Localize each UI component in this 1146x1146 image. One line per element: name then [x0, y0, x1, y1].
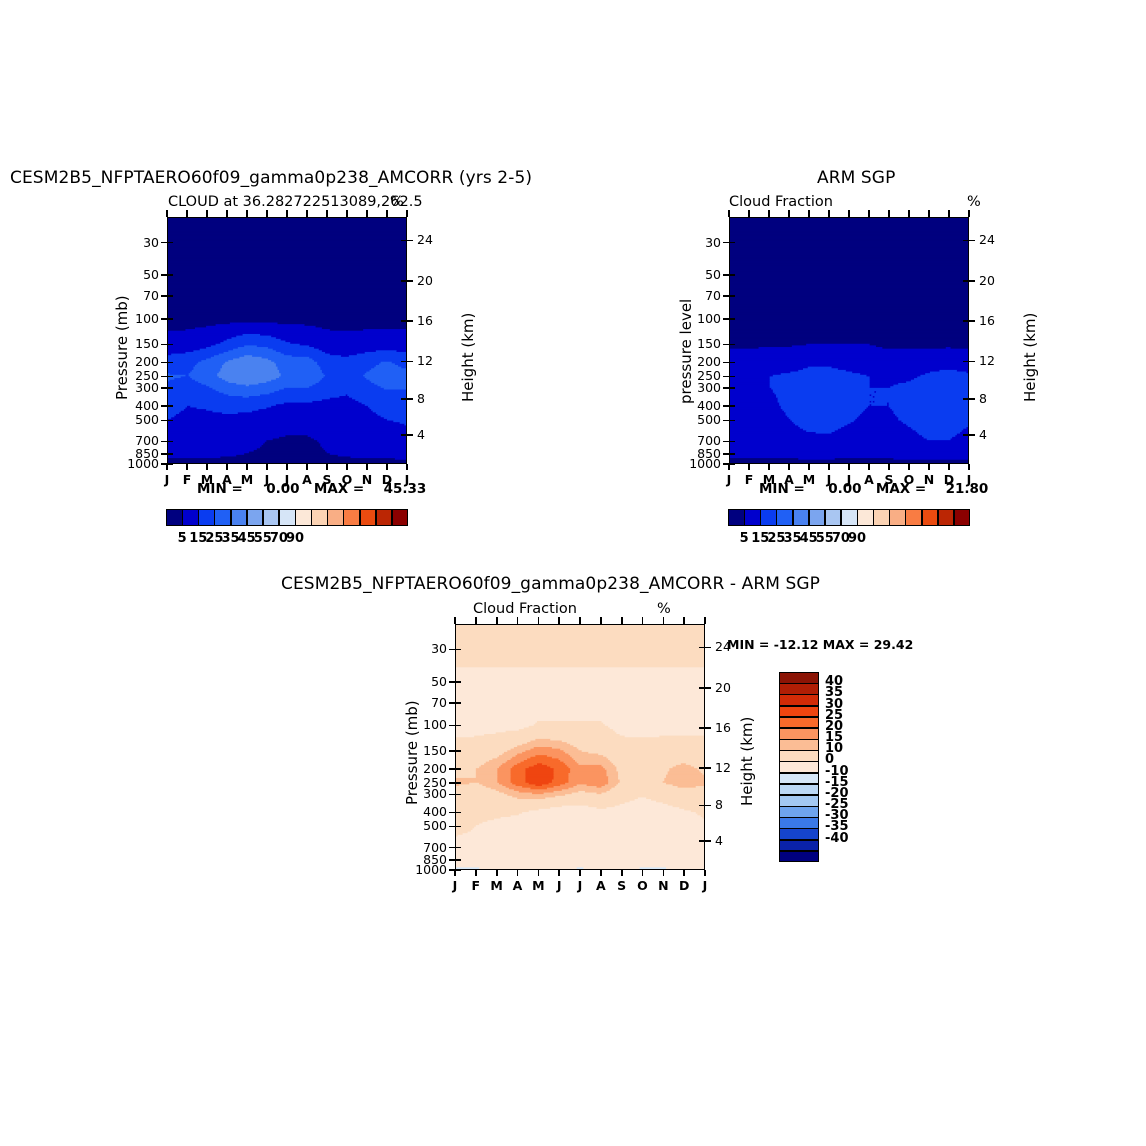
diff-colorbar-swatch	[779, 806, 819, 818]
pressure-inner-tickmark	[168, 344, 173, 346]
height-inner-tickmark	[699, 727, 704, 729]
pressure-tickmark	[723, 453, 729, 455]
cloud-colorbar-swatch	[728, 509, 745, 526]
month-tickmark	[475, 870, 477, 876]
pressure-tickmark	[449, 725, 455, 727]
diff-colorbar-swatch	[779, 728, 819, 740]
pressure-inner-tickmark	[456, 702, 461, 704]
month-top-tickmark	[928, 210, 930, 217]
pressure-tick-label: 150	[673, 336, 721, 351]
month-tick-label: J	[397, 472, 417, 487]
pressure-tickmark	[449, 782, 455, 784]
month-tickmark	[186, 464, 188, 470]
pressure-inner-tickmark	[456, 725, 461, 727]
pressure-tick-label: 70	[399, 695, 447, 710]
cloud-colorbar-swatch	[311, 509, 328, 526]
pressure-inner-tickmark	[168, 463, 173, 465]
height-tick-label: 24	[715, 639, 731, 654]
month-top-tickmark	[788, 210, 790, 217]
pressure-tick-label: 400	[673, 398, 721, 413]
cloud-colorbar-swatch	[954, 509, 971, 526]
month-tick-label: N	[653, 878, 673, 893]
month-tickmark	[968, 464, 970, 470]
pressure-tick-label: 50	[111, 267, 159, 282]
month-top-tickmark	[558, 617, 560, 624]
month-top-tickmark	[206, 210, 208, 217]
height-inner-tickmark	[401, 398, 406, 400]
height-tickmark	[705, 840, 711, 842]
month-top-tickmark	[908, 210, 910, 217]
month-tickmark	[848, 464, 850, 470]
pressure-tickmark	[449, 768, 455, 770]
height-tick-label: 8	[417, 391, 425, 406]
month-tick-label: M	[528, 878, 548, 893]
pressure-tick-label: 200	[111, 354, 159, 369]
pressure-inner-tickmark	[168, 274, 173, 276]
month-top-tickmark	[579, 617, 581, 624]
height-tickmark	[407, 280, 413, 282]
height-tick-label: 8	[979, 391, 987, 406]
height-inner-tickmark	[401, 240, 406, 242]
pressure-tick-label: 1000	[673, 456, 721, 471]
month-top-tickmark	[948, 210, 950, 217]
height-tick-label: 24	[979, 232, 995, 247]
month-top-tickmark	[346, 210, 348, 217]
pressure-inner-tickmark	[456, 649, 461, 651]
pressure-inner-tickmark	[456, 794, 461, 796]
height-tickmark	[969, 434, 975, 436]
pressure-inner-tickmark	[730, 463, 735, 465]
month-tickmark	[600, 870, 602, 876]
pressure-inner-tickmark	[168, 405, 173, 407]
height-tick-label: 8	[715, 797, 723, 812]
pressure-inner-tickmark	[730, 274, 735, 276]
cloud-colorbar-swatch	[744, 509, 761, 526]
pressure-inner-tickmark	[456, 847, 461, 849]
cloud-colorbar-swatch	[279, 509, 296, 526]
pressure-inner-tickmark	[456, 869, 461, 871]
month-top-tickmark	[475, 617, 477, 624]
diff-colorbar-swatch	[779, 694, 819, 706]
month-tickmark	[704, 870, 706, 876]
pressure-tick-label: 500	[673, 412, 721, 427]
pressure-inner-tickmark	[168, 295, 173, 297]
pressure-tick-label: 500	[399, 818, 447, 833]
pressure-tickmark	[723, 405, 729, 407]
month-tick-label: J	[570, 878, 590, 893]
month-top-tickmark	[326, 210, 328, 217]
pressure-tick-label: 50	[673, 267, 721, 282]
pressure-inner-tickmark	[730, 242, 735, 244]
pressure-tickmark	[161, 420, 167, 422]
cloud-colorbar-swatch	[809, 509, 826, 526]
height-tick-label: 12	[715, 760, 731, 775]
pressure-tickmark	[449, 750, 455, 752]
month-tickmark	[517, 870, 519, 876]
height-tick-label: 16	[979, 313, 995, 328]
pressure-inner-tickmark	[168, 387, 173, 389]
month-tick-label: O	[899, 472, 919, 487]
month-tickmark	[306, 464, 308, 470]
pressure-tickmark	[161, 405, 167, 407]
height-inner-tickmark	[401, 434, 406, 436]
pressure-inner-tickmark	[730, 441, 735, 443]
month-tickmark	[454, 870, 456, 876]
month-tick-label: O	[337, 472, 357, 487]
pressure-tickmark	[449, 859, 455, 861]
pressure-tickmark	[449, 681, 455, 683]
month-top-tickmark	[496, 617, 498, 624]
height-tickmark	[407, 434, 413, 436]
month-top-tickmark	[366, 210, 368, 217]
height-inner-tickmark	[699, 647, 704, 649]
cloud-colorbar-swatch	[231, 509, 248, 526]
cloud-colorbar-swatch	[938, 509, 955, 526]
month-tickmark	[406, 464, 408, 470]
pressure-tick-label: 400	[111, 398, 159, 413]
month-tickmark	[728, 464, 730, 470]
height-inner-tickmark	[963, 361, 968, 363]
diff-colorbar-swatch	[779, 761, 819, 773]
month-top-tickmark	[286, 210, 288, 217]
pressure-tickmark	[161, 387, 167, 389]
month-tickmark	[621, 870, 623, 876]
cloud-colorbar-swatch	[760, 509, 777, 526]
pressure-inner-tickmark	[456, 812, 461, 814]
pressure-inner-tickmark	[730, 453, 735, 455]
cloud-colorbar-swatch	[776, 509, 793, 526]
pressure-tickmark	[723, 362, 729, 364]
diff-colorbar-swatch	[779, 851, 819, 863]
month-tick-label: A	[297, 472, 317, 487]
pressure-inner-tickmark	[456, 859, 461, 861]
diff-colorbar-swatch	[779, 706, 819, 718]
month-top-tickmark	[663, 617, 665, 624]
height-tickmark	[705, 687, 711, 689]
month-top-tickmark	[517, 617, 519, 624]
month-tick-label: N	[357, 472, 377, 487]
pressure-inner-tickmark	[456, 750, 461, 752]
month-tick-label: N	[919, 472, 939, 487]
cloud-colorbar-swatch	[198, 509, 215, 526]
pressure-tickmark	[161, 295, 167, 297]
cloud-colorbar-swatch	[841, 509, 858, 526]
month-tick-label: J	[257, 472, 277, 487]
height-tick-label: 20	[715, 680, 731, 695]
pressure-tickmark	[161, 274, 167, 276]
month-tick-label: S	[612, 878, 632, 893]
month-tick-label: J	[819, 472, 839, 487]
month-tickmark	[888, 464, 890, 470]
height-tick-label: 20	[979, 273, 995, 288]
month-tickmark	[808, 464, 810, 470]
month-tickmark	[908, 464, 910, 470]
month-tick-label: F	[739, 472, 759, 487]
diff-colorbar-swatch	[779, 817, 819, 829]
month-tickmark	[868, 464, 870, 470]
diff-colorbar-swatch	[779, 750, 819, 762]
height-tickmark	[407, 240, 413, 242]
pressure-inner-tickmark	[730, 405, 735, 407]
pressure-tickmark	[161, 242, 167, 244]
month-tick-label: A	[508, 878, 528, 893]
pressure-tick-label: 500	[111, 412, 159, 427]
cloud-colorbar-swatch	[343, 509, 360, 526]
pressure-inner-tickmark	[168, 376, 173, 378]
pressure-tick-label: 200	[399, 761, 447, 776]
month-top-tickmark	[642, 617, 644, 624]
pressure-tickmark	[161, 362, 167, 364]
height-inner-tickmark	[401, 361, 406, 363]
month-top-tickmark	[748, 210, 750, 217]
month-top-tickmark	[454, 617, 456, 624]
diff-colorbar-swatch	[779, 828, 819, 840]
month-tick-label: J	[839, 472, 859, 487]
month-top-tickmark	[828, 210, 830, 217]
month-tickmark	[538, 870, 540, 876]
height-tickmark	[705, 767, 711, 769]
month-tick-label: D	[377, 472, 397, 487]
pressure-tickmark	[449, 649, 455, 651]
month-tick-label: D	[939, 472, 959, 487]
month-tick-label: D	[674, 878, 694, 893]
cloud-colorbar-swatch	[873, 509, 890, 526]
pressure-tickmark	[161, 441, 167, 443]
diff-colorbar-swatch	[779, 683, 819, 695]
month-top-tickmark	[868, 210, 870, 217]
height-tick-label: 24	[417, 232, 433, 247]
pressure-inner-tickmark	[168, 242, 173, 244]
pressure-tick-label: 200	[673, 354, 721, 369]
month-tickmark	[366, 464, 368, 470]
cloud-colorbar-swatch	[295, 509, 312, 526]
height-tickmark	[969, 280, 975, 282]
pressure-tick-label: 100	[673, 311, 721, 326]
cloud-colorbar-swatch	[922, 509, 939, 526]
month-top-tickmark	[808, 210, 810, 217]
month-tick-label: M	[237, 472, 257, 487]
pressure-tickmark	[723, 441, 729, 443]
diff-colorbar-swatch	[779, 773, 819, 785]
pressure-tick-label: 1000	[399, 862, 447, 877]
pressure-tick-label: 50	[399, 674, 447, 689]
cloud-colorbar-label: 90	[277, 531, 313, 546]
pressure-tickmark	[161, 318, 167, 320]
height-inner-tickmark	[963, 398, 968, 400]
month-top-tickmark	[728, 210, 730, 217]
height-tickmark	[407, 320, 413, 322]
cloud-colorbar-label: 90	[839, 531, 875, 546]
height-tickmark	[969, 320, 975, 322]
pressure-tickmark	[723, 387, 729, 389]
month-tickmark	[948, 464, 950, 470]
height-tickmark	[407, 398, 413, 400]
month-top-tickmark	[406, 210, 408, 217]
pressure-tickmark	[723, 376, 729, 378]
month-tickmark	[246, 464, 248, 470]
diff-colorbar-label: -40	[825, 831, 849, 846]
pressure-inner-tickmark	[168, 441, 173, 443]
pressure-tick-label: 70	[111, 288, 159, 303]
month-tickmark	[206, 464, 208, 470]
month-tickmark	[788, 464, 790, 470]
month-tick-label: F	[466, 878, 486, 893]
pressure-inner-tickmark	[456, 681, 461, 683]
pressure-tickmark	[723, 344, 729, 346]
height-inner-tickmark	[401, 280, 406, 282]
cloud-colorbar-swatch	[327, 509, 344, 526]
month-tickmark	[683, 870, 685, 876]
pressure-tick-label: 150	[399, 743, 447, 758]
height-tickmark	[705, 727, 711, 729]
cloud-colorbar-swatch	[360, 509, 377, 526]
month-top-tickmark	[888, 210, 890, 217]
diff-colorbar-swatch	[779, 672, 819, 684]
month-tickmark	[226, 464, 228, 470]
month-top-tickmark	[683, 617, 685, 624]
month-tick-label: J	[157, 472, 177, 487]
pressure-inner-tickmark	[730, 318, 735, 320]
height-tick-label: 16	[715, 720, 731, 735]
pressure-tick-label: 400	[399, 804, 447, 819]
month-top-tickmark	[226, 210, 228, 217]
pressure-tickmark	[449, 847, 455, 849]
pressure-inner-tickmark	[730, 362, 735, 364]
pressure-tick-label: 300	[399, 786, 447, 801]
pressure-inner-tickmark	[730, 295, 735, 297]
height-inner-tickmark	[699, 687, 704, 689]
diff-colorbar-swatch	[779, 717, 819, 729]
month-tickmark	[663, 870, 665, 876]
month-tickmark	[748, 464, 750, 470]
month-tick-label: J	[719, 472, 739, 487]
height-tick-label: 4	[417, 427, 425, 442]
month-tick-label: A	[779, 472, 799, 487]
cloud-colorbar-swatch	[857, 509, 874, 526]
pressure-tickmark	[723, 274, 729, 276]
pressure-inner-tickmark	[730, 344, 735, 346]
pressure-tickmark	[723, 242, 729, 244]
pressure-tick-label: 100	[111, 311, 159, 326]
cloud-colorbar-swatch	[392, 509, 409, 526]
month-tick-label: A	[591, 878, 611, 893]
cloud-colorbar-swatch	[905, 509, 922, 526]
month-tickmark	[326, 464, 328, 470]
month-tick-label: J	[445, 878, 465, 893]
pressure-tick-label: 300	[673, 380, 721, 395]
diff-colorbar-swatch	[779, 784, 819, 796]
month-top-tickmark	[386, 210, 388, 217]
cloud-colorbar-swatch	[793, 509, 810, 526]
month-tickmark	[928, 464, 930, 470]
pressure-tickmark	[723, 318, 729, 320]
pressure-tickmark	[449, 812, 455, 814]
month-tickmark	[386, 464, 388, 470]
month-tickmark	[642, 870, 644, 876]
height-tickmark	[969, 361, 975, 363]
month-tick-label: J	[277, 472, 297, 487]
height-inner-tickmark	[699, 805, 704, 807]
diff-colorbar-swatch	[779, 795, 819, 807]
month-tick-label: S	[317, 472, 337, 487]
month-tick-label: A	[859, 472, 879, 487]
month-top-tickmark	[600, 617, 602, 624]
month-tick-label: O	[633, 878, 653, 893]
cloud-colorbar-swatch	[376, 509, 393, 526]
cloud-colorbar-swatch	[214, 509, 231, 526]
month-top-tickmark	[768, 210, 770, 217]
month-top-tickmark	[246, 210, 248, 217]
month-tick-label: A	[217, 472, 237, 487]
month-top-tickmark	[538, 617, 540, 624]
month-tick-label: M	[799, 472, 819, 487]
month-top-tickmark	[621, 617, 623, 624]
pressure-tickmark	[161, 344, 167, 346]
month-top-tickmark	[968, 210, 970, 217]
diff-colorbar-swatch	[779, 840, 819, 852]
height-tick-label: 4	[715, 833, 723, 848]
month-top-tickmark	[166, 210, 168, 217]
pressure-inner-tickmark	[456, 826, 461, 828]
cloud-colorbar-swatch	[825, 509, 842, 526]
pressure-tickmark	[449, 826, 455, 828]
month-tick-label: M	[759, 472, 779, 487]
cloud-colorbar-swatch	[166, 509, 183, 526]
height-tick-label: 12	[979, 353, 995, 368]
height-tick-label: 16	[417, 313, 433, 328]
pressure-tick-label: 30	[673, 235, 721, 250]
month-top-tickmark	[266, 210, 268, 217]
pressure-inner-tickmark	[730, 376, 735, 378]
height-tick-label: 20	[417, 273, 433, 288]
month-top-tickmark	[848, 210, 850, 217]
month-tickmark	[496, 870, 498, 876]
month-tickmark	[266, 464, 268, 470]
month-tickmark	[828, 464, 830, 470]
pressure-tickmark	[161, 453, 167, 455]
cloud-colorbar-swatch	[247, 509, 264, 526]
month-tick-label: F	[177, 472, 197, 487]
month-tick-label: J	[959, 472, 979, 487]
pressure-tick-label: 70	[673, 288, 721, 303]
pressure-inner-tickmark	[168, 318, 173, 320]
height-inner-tickmark	[401, 320, 406, 322]
pressure-tick-label: 30	[399, 641, 447, 656]
pressure-tickmark	[723, 295, 729, 297]
pressure-tickmark	[161, 376, 167, 378]
month-top-tickmark	[306, 210, 308, 217]
height-tickmark	[407, 361, 413, 363]
height-inner-tickmark	[699, 767, 704, 769]
month-tickmark	[558, 870, 560, 876]
cloud-colorbar-swatch	[263, 509, 280, 526]
pressure-tick-label: 30	[111, 235, 159, 250]
height-tickmark	[705, 805, 711, 807]
pressure-tickmark	[723, 420, 729, 422]
pressure-inner-tickmark	[730, 387, 735, 389]
pressure-tick-label: 100	[399, 717, 447, 732]
pressure-tick-label: 300	[111, 380, 159, 395]
month-tick-label: M	[197, 472, 217, 487]
pressure-tickmark	[449, 702, 455, 704]
month-tickmark	[286, 464, 288, 470]
pressure-inner-tickmark	[168, 453, 173, 455]
pressure-inner-tickmark	[456, 768, 461, 770]
pressure-inner-tickmark	[168, 362, 173, 364]
pressure-tick-label: 150	[111, 336, 159, 351]
month-tickmark	[166, 464, 168, 470]
pressure-inner-tickmark	[168, 420, 173, 422]
